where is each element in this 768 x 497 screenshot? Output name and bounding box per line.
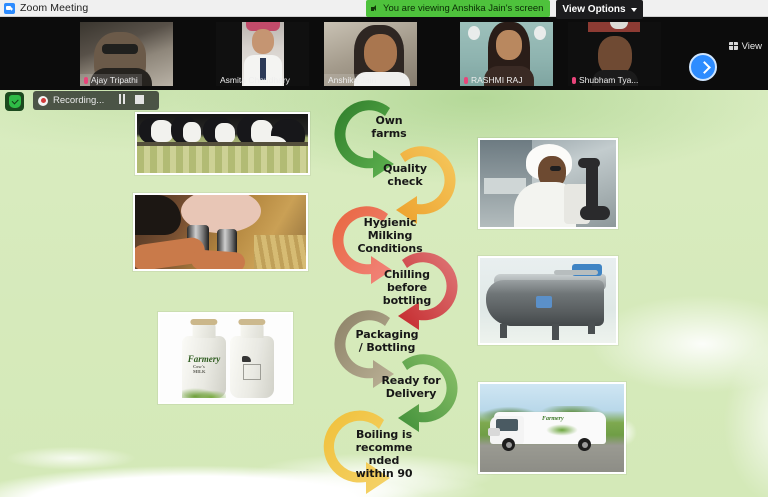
speaker-icon [371, 5, 379, 13]
chilling-tank-photo [478, 256, 618, 345]
zoom-meeting-window: Zoom Meeting You are viewing Anshika Jai… [0, 0, 768, 497]
microphone-muted-icon [464, 77, 468, 84]
lab-quality-check-photo [478, 138, 618, 229]
recording-indicator: Recording... [33, 91, 159, 110]
chevron-down-icon [631, 8, 637, 12]
photo-content [480, 140, 616, 227]
filmstrip-next-page-button[interactable] [689, 53, 717, 81]
participant-tile-shubham-tyagi[interactable]: Shubham Tya... [568, 22, 661, 86]
recording-label: Recording... [53, 95, 104, 106]
photo-content [480, 258, 616, 343]
participant-nameplate: Asmita Chaudhary [216, 74, 294, 86]
recording-controls [119, 94, 144, 104]
flow-label-quality-check: Quality check [368, 162, 442, 188]
view-layout-button[interactable]: View [729, 39, 762, 53]
photo-content: Farmery Cow's MILK [160, 314, 291, 402]
view-options-button[interactable]: View Options [556, 0, 643, 19]
cows-at-feed-photo [135, 112, 310, 175]
shield-check-icon [9, 95, 21, 108]
participant-tile-asmita-chaudhary[interactable]: Asmita Chaudhary [216, 22, 309, 86]
pause-icon[interactable] [119, 94, 126, 104]
flow-label-own-farms: Own farms [354, 114, 424, 140]
bottle-leaf-graphic [182, 382, 226, 398]
screen-share-banner: You are viewing Anshika Jain's screen [366, 0, 550, 17]
microphone-muted-icon [572, 77, 576, 84]
hygienic-milking-photo [133, 193, 308, 271]
window-title: Zoom Meeting [20, 2, 88, 14]
participant-tile-rashmi-raj[interactable]: RASHMI RAJ [460, 22, 553, 86]
bottle-cap [190, 319, 217, 325]
process-flow-diagram: Own farms Quality check [318, 96, 484, 497]
participant-nameplate: RASHMI RAJ [460, 74, 526, 86]
security-shield-button[interactable] [5, 92, 24, 111]
flow-label-boiling-recommended: Boiling is recomme nded within 90 [340, 428, 428, 480]
bottle-tagline-label: Cow's MILK [193, 364, 215, 374]
participant-name: Shubham Tya... [579, 75, 638, 85]
participant-name: Ajay Tripathi [91, 75, 138, 85]
participant-nameplate: Shubham Tya... [568, 74, 642, 86]
participant-tile-ajay-tripathi[interactable]: Ajay Tripathi [80, 22, 173, 86]
bottle-brand-label: Farmery [188, 354, 221, 364]
bottle-neck [241, 323, 264, 338]
participant-name: Anshika Jain [328, 75, 376, 85]
zoom-logo-icon [4, 3, 15, 14]
participant-name: Asmita Chaudhary [220, 75, 290, 85]
screen-share-banner-text: You are viewing Anshika Jain's screen [383, 3, 543, 14]
farmery-delivery-van-photo: Farmery [478, 382, 626, 474]
photo-content [135, 195, 306, 269]
van-brand-label: Farmery [542, 416, 564, 422]
flow-label-ready-for-delivery: Ready for Delivery [370, 374, 452, 400]
participant-nameplate: Anshika Jain [324, 74, 380, 86]
view-button-label: View [742, 41, 762, 52]
microphone-muted-icon [84, 77, 88, 84]
shared-screen-slide: Farmery Cow's MILK [0, 90, 768, 497]
participant-name: RASHMI RAJ [471, 75, 522, 85]
photo-content [137, 114, 308, 173]
stop-icon[interactable] [135, 95, 144, 104]
participant-filmstrip: Ajay Tripathi Asmita Chaudhary Ans [0, 17, 768, 90]
record-dot-icon [38, 96, 48, 106]
photo-content: Farmery [480, 384, 624, 472]
view-options-label: View Options [562, 4, 625, 15]
participant-nameplate: Ajay Tripathi [80, 74, 142, 86]
bottle-cap [238, 319, 265, 325]
farmery-bottles-photo: Farmery Cow's MILK [158, 312, 293, 404]
grid-view-icon [729, 42, 738, 50]
participant-tile-anshika-jain[interactable]: Anshika Jain [324, 22, 417, 86]
bottle-neck [193, 323, 216, 338]
